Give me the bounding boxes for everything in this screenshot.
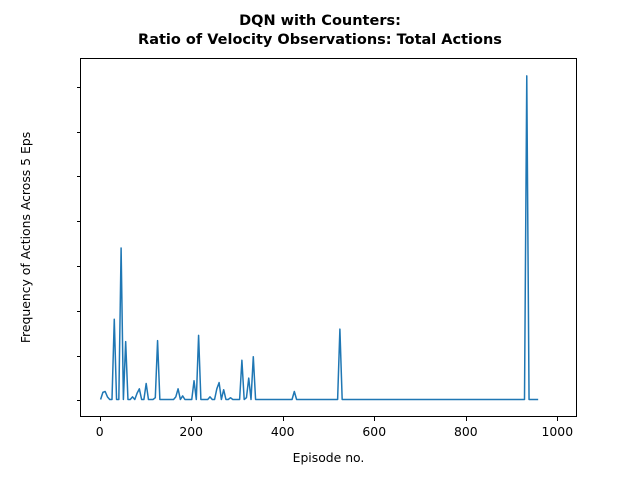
- x-tick-label: 1000: [542, 424, 574, 439]
- chart-figure: DQN with Counters: Ratio of Velocity Obs…: [0, 0, 640, 480]
- x-tick-mark: [374, 417, 375, 421]
- x-tick-label: 400: [271, 424, 295, 439]
- plot-area: [80, 58, 577, 417]
- x-tick-mark: [466, 417, 467, 421]
- x-tick-mark: [191, 417, 192, 421]
- y-axis-label: Frequency of Actions Across 5 Eps: [18, 58, 36, 417]
- x-tick-label: 0: [96, 424, 104, 439]
- x-tick-mark: [283, 417, 284, 421]
- x-axis-label: Episode no.: [80, 450, 577, 465]
- chart-title: DQN with Counters: Ratio of Velocity Obs…: [0, 12, 640, 49]
- data-line-chart: [81, 59, 576, 416]
- x-tick-label: 800: [454, 424, 478, 439]
- series-velocity-ratio: [101, 76, 539, 400]
- x-tick-mark: [557, 417, 558, 421]
- x-tick-label: 600: [362, 424, 386, 439]
- x-tick-label: 200: [179, 424, 203, 439]
- x-tick-mark: [100, 417, 101, 421]
